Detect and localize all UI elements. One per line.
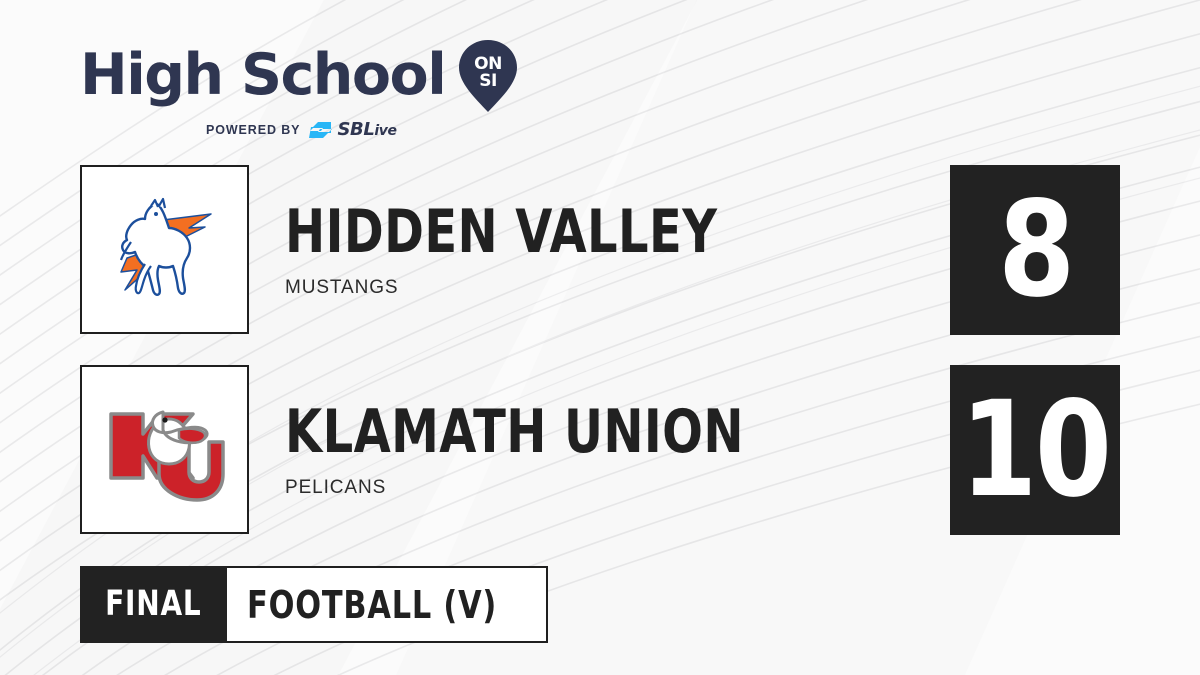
game-state-label: FINAL	[105, 587, 202, 622]
hidden-valley-mustangs-logo-icon	[101, 186, 229, 314]
team-name: HIDDEN VALLEY	[285, 202, 717, 262]
team-score-box: 8	[950, 165, 1120, 335]
game-state-badge: FINAL	[80, 566, 227, 643]
sblive-wordmark-main: SBL	[337, 119, 374, 140]
brand-header: High School ON SI POWERED BY SBLive	[80, 36, 550, 136]
team-logo-tile	[80, 365, 249, 534]
powered-by-label: POWERED BY	[206, 123, 300, 137]
powered-by-row: POWERED BY SBLive	[206, 121, 550, 139]
brand-wordmark: High School ON SI	[80, 36, 550, 114]
team-info: HIDDEN VALLEY MUSTANGS	[285, 165, 825, 334]
on-si-location-pin-icon: ON SI	[457, 38, 519, 114]
team-score: 8	[998, 184, 1073, 316]
team-score: 10	[960, 384, 1109, 516]
team-mascot: MUSTANGS	[285, 278, 825, 298]
sblive-wordmark-suffix: ive	[374, 123, 396, 139]
sport-label: FOOTBALL (V)	[247, 586, 497, 624]
svg-text:SI: SI	[479, 71, 497, 91]
sblive-wordmark: SBLive	[337, 120, 396, 141]
game-status-bar: FINAL FOOTBALL (V)	[80, 566, 548, 643]
sblive-logo: SBLive	[309, 121, 396, 140]
team-score-box: 10	[950, 365, 1120, 535]
team-mascot: PELICANS	[285, 478, 859, 498]
scoreboard-graphic: High School ON SI POWERED BY SBLive	[0, 0, 1200, 675]
sport-label-panel: FOOTBALL (V)	[227, 566, 548, 643]
team-logo-tile	[80, 165, 249, 334]
klamath-union-pelicans-logo-icon	[101, 386, 229, 514]
team-name: KLAMATH UNION	[285, 402, 744, 462]
team-info: KLAMATH UNION PELICANS	[285, 365, 859, 534]
brand-wordmark-text: High School	[80, 46, 445, 104]
sblive-s-mark-icon	[309, 121, 335, 139]
team-row: KLAMATH UNION PELICANS 10	[80, 365, 1120, 535]
team-row: HIDDEN VALLEY MUSTANGS 8	[80, 165, 1120, 335]
